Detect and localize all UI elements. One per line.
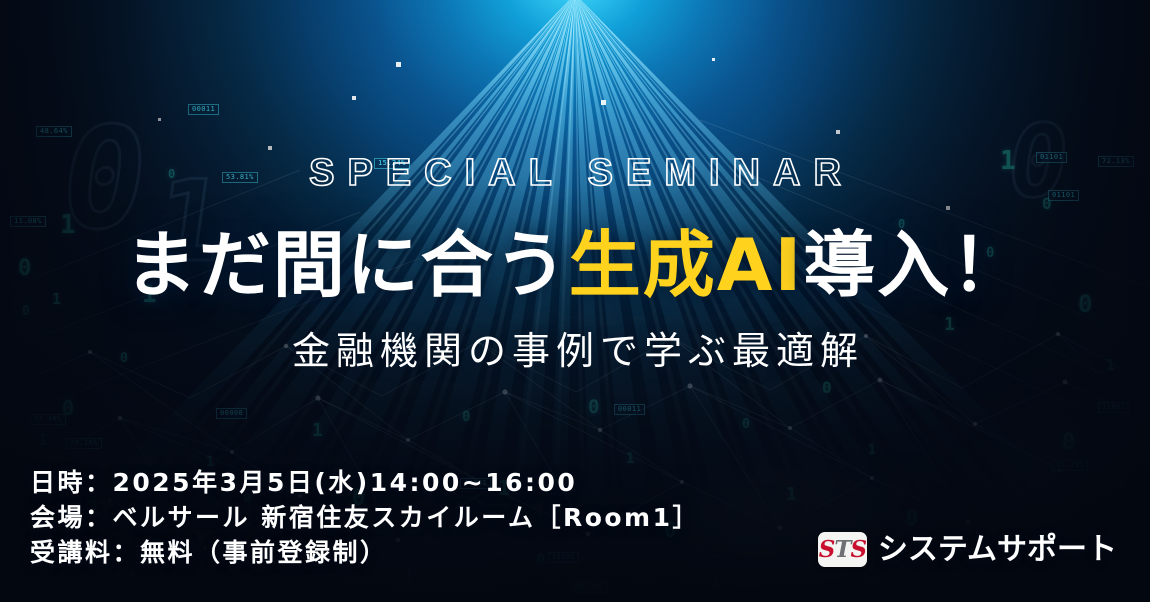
sts-logo-letters: STS xyxy=(819,538,866,561)
kicker-text: SPECIAL SEMINAR xyxy=(0,152,1150,195)
sts-logo-mark: STS xyxy=(818,532,867,567)
headline: まだ間に合う生成AI導入！ xyxy=(0,206,1150,311)
sts-letter-t: T xyxy=(834,536,850,563)
event-details: 日時：2025年3月5日(水)14:00~16:00 会場：ベルサール 新宿住友… xyxy=(30,465,700,570)
detail-line-fee: 受講料：無料（事前登録制） xyxy=(30,535,700,570)
company-name: システムサポート xyxy=(878,535,1117,565)
seminar-banner: 0 1 0 0101011010101010101001010101011001… xyxy=(0,0,1150,602)
headline-tail: 導入！ xyxy=(803,223,1025,307)
banner-content: SPECIAL SEMINAR まだ間に合う生成AI導入！ 金融機関の事例で学ぶ… xyxy=(0,0,1150,602)
detail-line-venue: 会場：ベルサール 新宿住友スカイルーム［Room1］ xyxy=(30,500,700,535)
sts-letter-s2: S xyxy=(850,536,866,563)
detail-line-datetime: 日時：2025年3月5日(水)14:00~16:00 xyxy=(30,465,700,500)
subtitle-text: 金融機関の事例で学ぶ最適解 xyxy=(0,320,1150,375)
headline-lead: まだ間に合う xyxy=(125,223,569,307)
sts-letter-s1: S xyxy=(819,536,835,563)
headline-accent: 生成AI xyxy=(569,223,804,307)
company-logo: STS システムサポート xyxy=(818,532,1117,567)
